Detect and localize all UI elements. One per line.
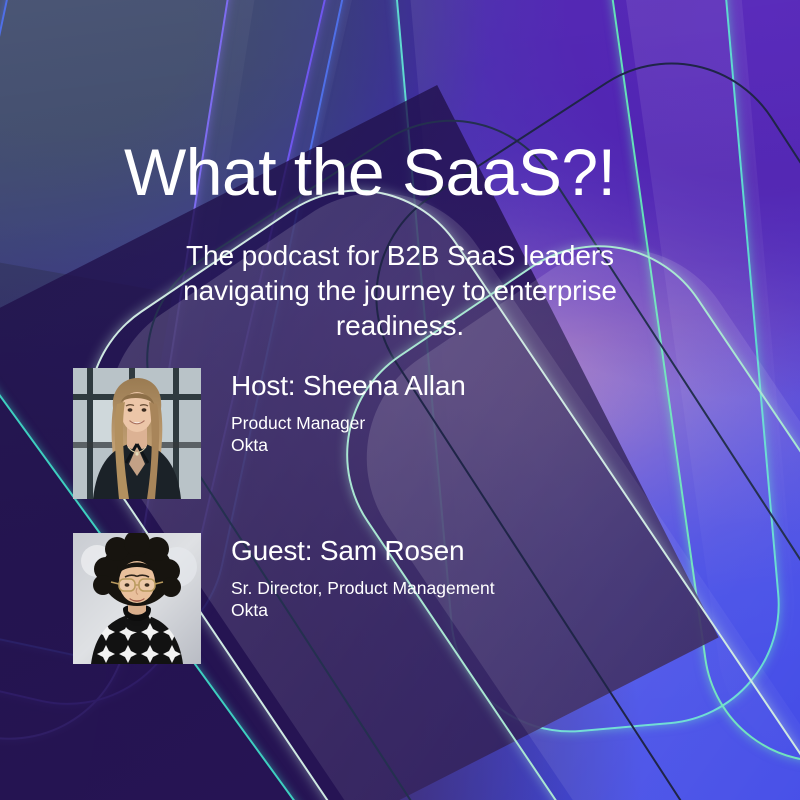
host-info: Host: Sheena Allan Product Manager Okta (231, 369, 466, 456)
host-name: Host: Sheena Allan (231, 369, 466, 403)
podcast-promo-card: What the SaaS?! The podcast for B2B SaaS… (0, 0, 800, 800)
host-avatar (73, 368, 201, 499)
decorative-outline-green-1 (572, 0, 800, 778)
guest-company: Okta (231, 599, 495, 621)
page-subtitle: The podcast for B2B SaaS leaders navigat… (0, 238, 800, 343)
decorative-panel-4 (588, 0, 800, 778)
guest-role: Sr. Director, Product Management (231, 577, 495, 599)
guest-info: Guest: Sam Rosen Sr. Director, Product M… (231, 534, 495, 621)
host-role: Product Manager (231, 412, 466, 434)
guest-avatar (73, 533, 201, 664)
page-title: What the SaaS?! (124, 139, 615, 205)
host-company: Okta (231, 434, 466, 456)
guest-name: Guest: Sam Rosen (231, 534, 495, 568)
